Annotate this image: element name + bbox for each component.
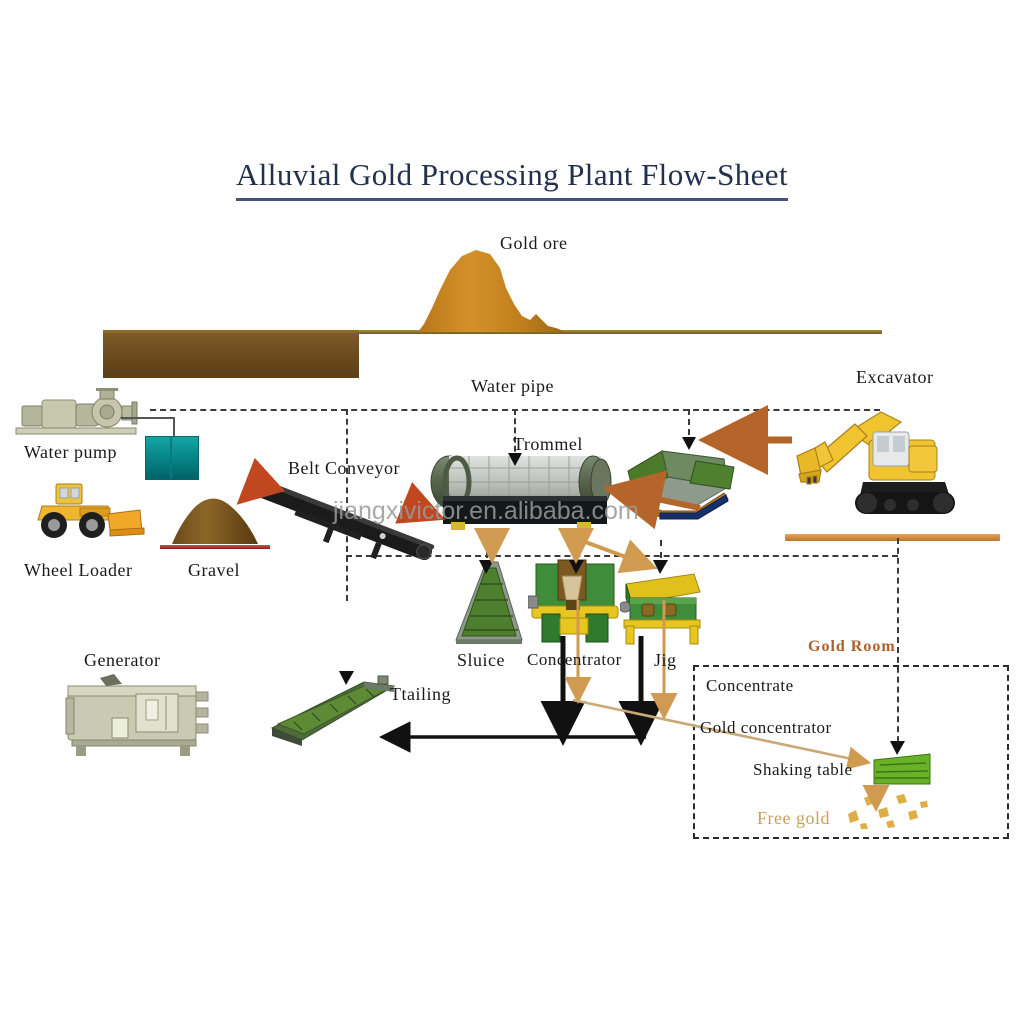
page-title-text: Alluvial Gold Processing Plant Flow-Shee… (236, 157, 788, 201)
label-trommel: Trommel (513, 434, 583, 455)
page-title: Alluvial Gold Processing Plant Flow-Shee… (0, 157, 1024, 201)
generator-icon (62, 672, 212, 758)
label-shaking-table: Shaking table (753, 760, 853, 780)
label-generator: Generator (84, 650, 160, 671)
gold-ore-pile (410, 246, 590, 332)
label-belt-conveyor: Belt Conveyor (288, 458, 400, 479)
excavator-ground-bar (785, 534, 1000, 541)
label-concentrator: Concentrator (527, 650, 622, 670)
tailing-sluice-icon (268, 672, 398, 750)
label-sluice: Sluice (457, 650, 505, 671)
label-jig: Jig (654, 650, 677, 671)
wheel-loader-icon (22, 478, 146, 540)
label-water-pipe: Water pipe (471, 376, 554, 397)
shaking-table-icon (872, 752, 934, 786)
concentrator-icon (528, 556, 622, 646)
label-gravel: Gravel (188, 560, 240, 581)
label-excavator: Excavator (856, 367, 933, 388)
watermark: jiangxivictor.en.alibaba.com (333, 497, 673, 526)
ground-embankment (103, 330, 359, 378)
excavator-icon (785, 398, 965, 534)
label-wheel-loader: Wheel Loader (24, 560, 132, 581)
label-concentrate: Concentrate (706, 676, 794, 696)
flowsheet-canvas: Alluvial Gold Processing Plant Flow-Shee… (0, 0, 1024, 1024)
water-pipe-branch-hopper (688, 409, 690, 445)
label-free-gold: Free gold (757, 808, 830, 829)
jig-icon (620, 558, 704, 646)
water-tank (145, 436, 199, 480)
label-gold-room: Gold Room (808, 638, 896, 656)
water-pipe-branch-jig (660, 540, 662, 558)
free-gold-flecks (842, 790, 932, 830)
sluice-icon (452, 560, 526, 646)
water-tank-divider (170, 436, 172, 478)
label-water-pump: Water pump (24, 442, 117, 463)
label-gold-concentrator: Gold concentrator (700, 718, 832, 738)
label-tailing: Ttailing (390, 684, 451, 705)
label-gold-ore: Gold ore (500, 233, 567, 254)
water-pipe-branch-sluice (486, 540, 488, 558)
